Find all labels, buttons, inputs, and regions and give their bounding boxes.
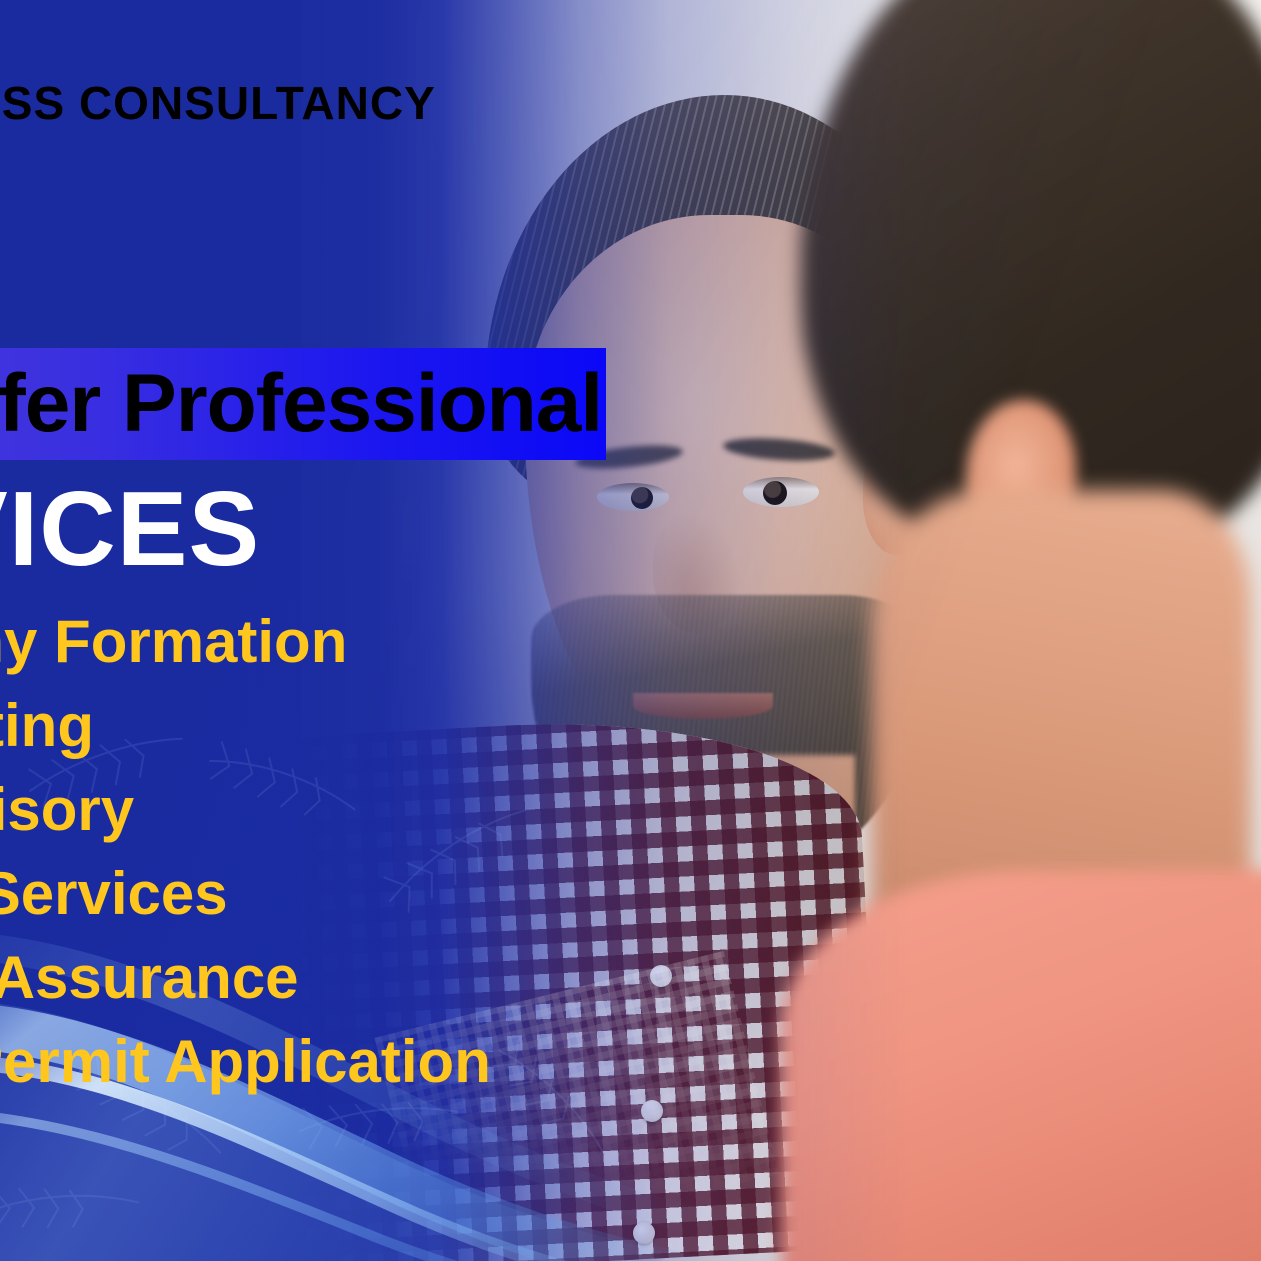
highlight-line-wrapper: We Offer Professional [0,348,606,460]
poster-canvas: BUSINESS CONSULTANCY We Offer Profession… [0,0,1261,1261]
eyebrow-text: BUSINESS CONSULTANCY [0,76,436,130]
list-item: Tax Advisory [0,780,491,864]
list-item: Audit & Assurance [0,948,491,1032]
list-item: Accounting [0,696,491,780]
list-item: Company Formation [0,612,491,696]
poster-copy: BUSINESS CONSULTANCY We Offer Profession… [0,0,1261,1261]
list-item: Payroll Services [0,864,491,948]
page-title: SERVICES [0,476,260,582]
highlight-line: We Offer Professional [0,348,606,460]
services-list: Company Formation Accounting Tax Advisor… [0,612,491,1116]
list-item: Visa & Permit Application [0,1032,491,1116]
